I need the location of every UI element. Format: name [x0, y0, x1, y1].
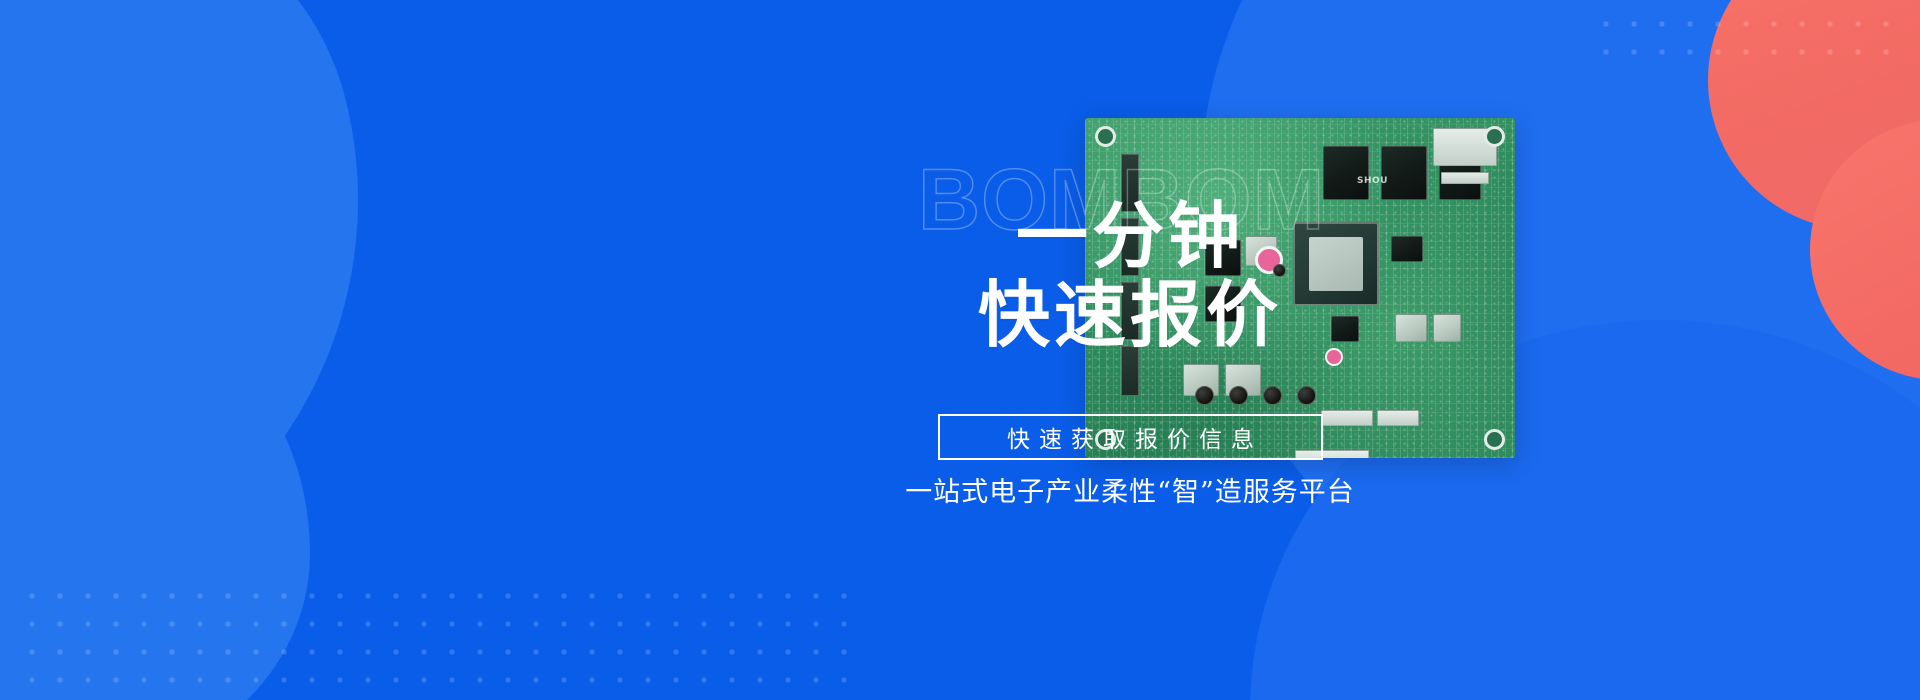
- banner-tagline: 一站式电子产业柔性“智”造服务平台: [845, 470, 1415, 509]
- headline-line-1: 一分钟: [930, 200, 1330, 273]
- headline-group: 一分钟 快速报价: [930, 200, 1330, 353]
- headline-line-2: 快速报价: [930, 279, 1330, 352]
- banner-content: BOMBOM 一分钟 快速报价 快速获取报价信息 一站式电子产业柔性“智”造服务…: [0, 0, 1920, 700]
- get-quote-button[interactable]: 快速获取报价信息: [938, 414, 1323, 460]
- hero-banner: SHOU BOMBOM 一分钟 快速报价 快速获取报价信息 一站式电子产业柔性“…: [0, 0, 1920, 700]
